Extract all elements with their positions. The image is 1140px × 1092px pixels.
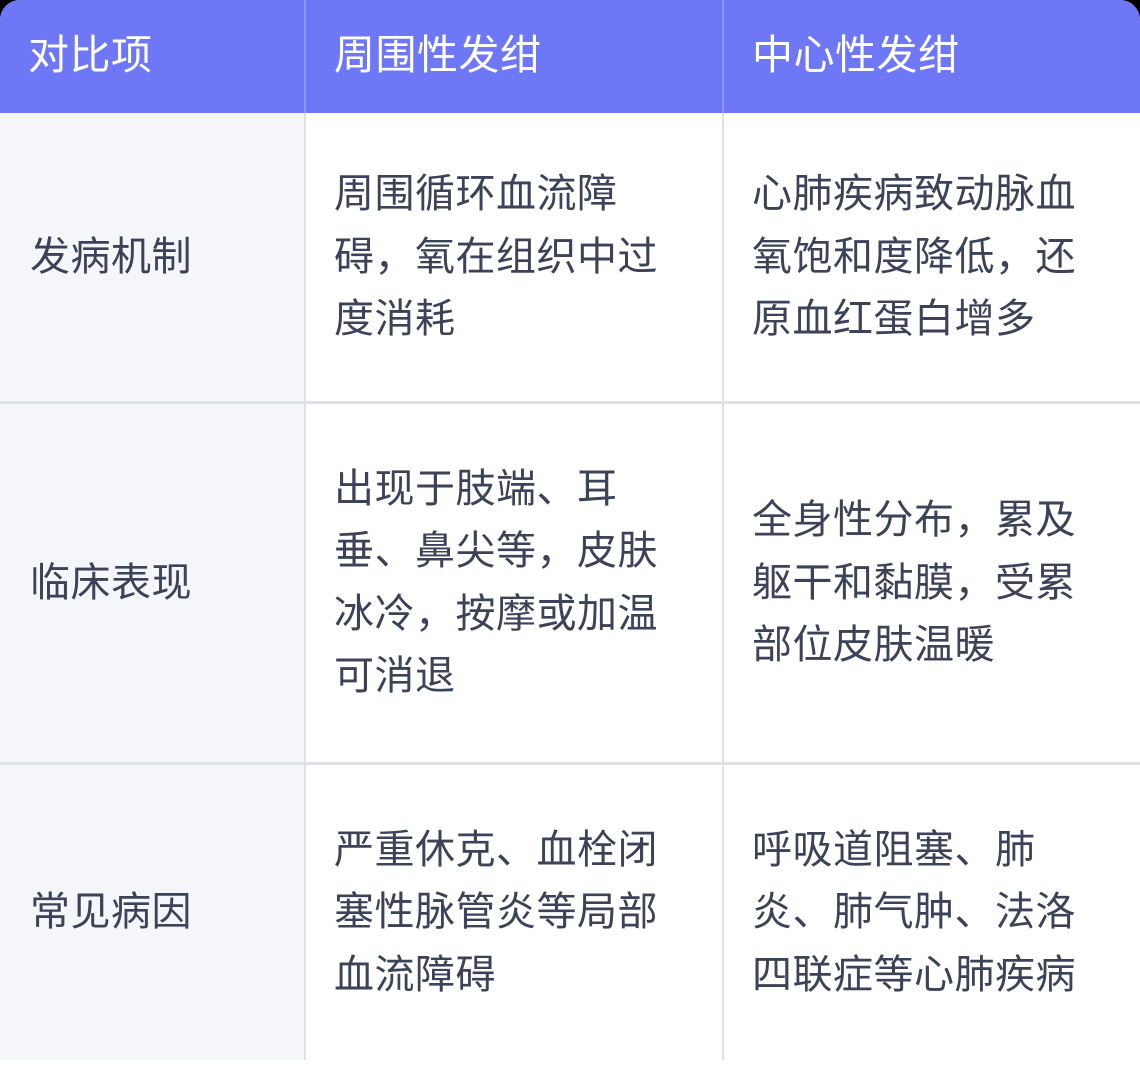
cell-pathogenesis-peripheral: 周围循环血流障碍，氧在组织中过度消耗	[305, 113, 723, 402]
table-row: 常见病因 严重休克、血栓闭塞性脉管炎等局部血流障碍 呼吸道阻塞、肺炎、肺气肿、法…	[0, 763, 1140, 1060]
row-header-common-causes: 常见病因	[0, 763, 305, 1060]
cell-causes-central: 呼吸道阻塞、肺炎、肺气肿、法洛四联症等心肺疾病	[723, 763, 1140, 1060]
row-header-pathogenesis: 发病机制	[0, 113, 305, 402]
column-header-peripheral-cyanosis: 周围性发绀	[305, 0, 723, 113]
cell-pathogenesis-central: 心肺疾病致动脉血氧饱和度降低，还原血红蛋白增多	[723, 113, 1140, 402]
comparison-table: 对比项 周围性发绀 中心性发绀 发病机制 周围循环血流障碍，氧在组织中过度消耗 …	[0, 0, 1140, 1060]
cell-causes-peripheral: 严重休克、血栓闭塞性脉管炎等局部血流障碍	[305, 763, 723, 1060]
table-row: 临床表现 出现于肢端、耳垂、鼻尖等，皮肤冰冷，按摩或加温可消退 全身性分布，累及…	[0, 402, 1140, 763]
column-header-criteria: 对比项	[0, 0, 305, 113]
row-header-clinical-manifestation: 临床表现	[0, 402, 305, 763]
table-header: 对比项 周围性发绀 中心性发绀	[0, 0, 1140, 113]
table-body: 发病机制 周围循环血流障碍，氧在组织中过度消耗 心肺疾病致动脉血氧饱和度降低，还…	[0, 113, 1140, 1060]
table-row: 发病机制 周围循环血流障碍，氧在组织中过度消耗 心肺疾病致动脉血氧饱和度降低，还…	[0, 113, 1140, 402]
comparison-table-card: 对比项 周围性发绀 中心性发绀 发病机制 周围循环血流障碍，氧在组织中过度消耗 …	[0, 0, 1140, 1092]
column-header-central-cyanosis: 中心性发绀	[723, 0, 1140, 113]
cell-clinical-peripheral: 出现于肢端、耳垂、鼻尖等，皮肤冰冷，按摩或加温可消退	[305, 402, 723, 763]
cell-clinical-central: 全身性分布，累及躯干和黏膜，受累部位皮肤温暖	[723, 402, 1140, 763]
table-header-row: 对比项 周围性发绀 中心性发绀	[0, 0, 1140, 113]
